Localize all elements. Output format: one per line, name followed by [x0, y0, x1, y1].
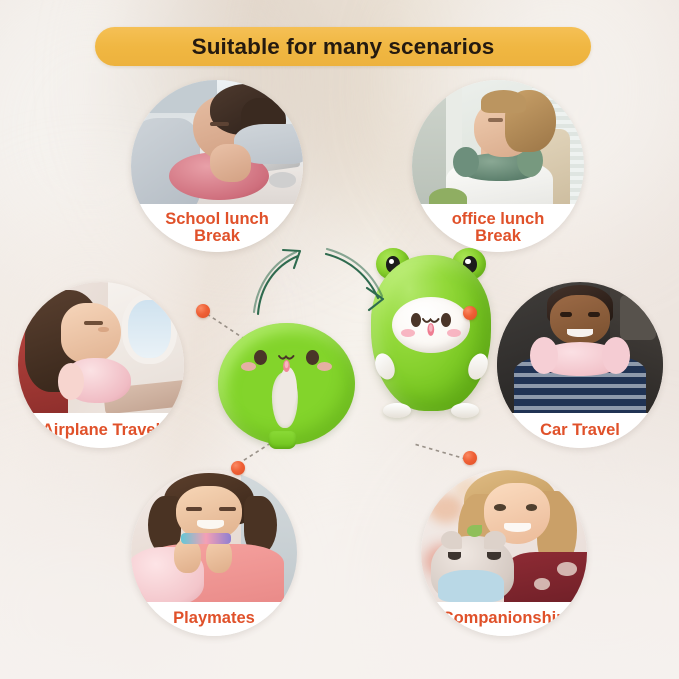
- scenario-card-office-lunch-break[interactable]: office lunch Break: [412, 80, 584, 252]
- connector-dot-car: [463, 306, 477, 320]
- scenario-photo-companionship: [421, 470, 587, 602]
- connector-dot-playmates: [231, 461, 245, 475]
- scenario-photo-playmates: [131, 470, 297, 602]
- scenario-card-car-travel[interactable]: Car Travel: [497, 282, 663, 448]
- label-line-1: office lunch: [452, 211, 545, 228]
- scenario-label-airplane-travel: Airplane Travel: [18, 413, 184, 448]
- label-line-1: Playmates: [173, 610, 255, 627]
- scenario-photo-car-travel: [497, 282, 663, 413]
- scenario-photo-airplane-travel: [18, 282, 184, 413]
- page-title: Suitable for many scenarios: [192, 34, 495, 60]
- scenario-card-playmates[interactable]: Playmates: [131, 470, 297, 636]
- scenario-card-companionship[interactable]: Companionship: [421, 470, 587, 636]
- label-line-1: Car Travel: [540, 422, 620, 439]
- scenario-photo-office-lunch-break: [412, 80, 584, 208]
- connector-dot-airplane: [196, 304, 210, 318]
- scenario-label-school-lunch-break: School lunch Break: [131, 204, 303, 252]
- scenario-label-companionship: Companionship: [421, 602, 587, 636]
- connector-dot-companionship: [463, 451, 477, 465]
- label-line-1: School lunch: [165, 211, 269, 228]
- label-line-1: Airplane Travel: [42, 422, 160, 439]
- label-line-2: Break: [475, 228, 521, 245]
- label-line-1: Companionship: [442, 610, 567, 627]
- scenario-card-airplane-travel[interactable]: Airplane Travel: [18, 282, 184, 448]
- scenario-label-office-lunch-break: office lunch Break: [412, 204, 584, 252]
- label-line-2: Break: [194, 228, 240, 245]
- scenario-label-car-travel: Car Travel: [497, 413, 663, 448]
- title-banner: Suitable for many scenarios: [95, 27, 591, 66]
- scenario-label-playmates: Playmates: [131, 602, 297, 636]
- scenario-photo-school-lunch-break: [131, 80, 303, 208]
- scenario-card-school-lunch-break[interactable]: School lunch Break: [131, 80, 303, 252]
